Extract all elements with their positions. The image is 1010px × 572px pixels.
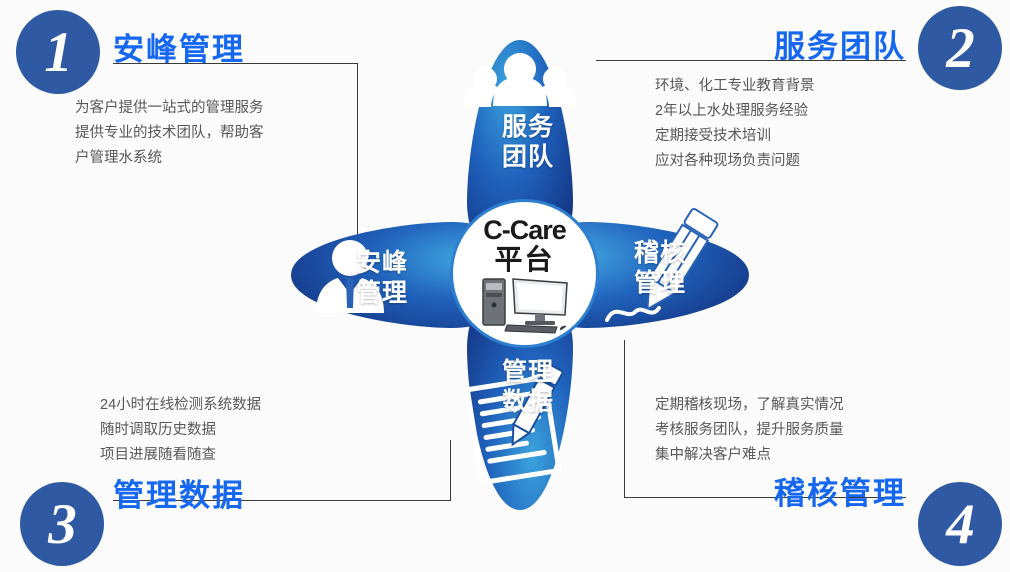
flower-diagram: 服务 团队 安峰 管理 稽核 管理 管理 数据 C-Care 平台 (255, 20, 785, 530)
section-body-3: 24小时在线检测系统数据 随时调取历史数据 项目进展随看随查 (100, 393, 261, 468)
number-badge-2-label: 2 (946, 20, 974, 77)
section-heading-1: 安峰管理 (113, 24, 245, 69)
body-line: 24小时在线检测系统数据 (100, 393, 261, 418)
number-badge-3: 3 (20, 482, 104, 566)
number-badge-1-label: 1 (44, 24, 72, 81)
infographic-canvas: 1 2 3 4 安峰管理 服务团队 管理数据 稽核管理 为客户提供一站式的管理服… (0, 0, 1010, 572)
number-badge-1: 1 (16, 10, 100, 94)
section-body-1: 为客户提供一站式的管理服务 提供专业的技术团队，帮助客 户管理水系统 (75, 96, 264, 171)
body-line: 为客户提供一站式的管理服务 (75, 96, 264, 121)
section-heading-2: 服务团队 (774, 21, 906, 66)
section-heading-3: 管理数据 (113, 470, 245, 515)
body-line: 随时调取历史数据 (100, 418, 261, 443)
center-hub[interactable]: C-Care 平台 (453, 202, 596, 345)
section-heading-4: 稽核管理 (774, 468, 906, 513)
number-badge-3-label: 3 (48, 496, 76, 553)
desktop-computer-icon (477, 275, 573, 335)
number-badge-4-label: 4 (946, 496, 974, 553)
body-line: 提供专业的技术团队，帮助客 (75, 121, 264, 146)
body-line: 户管理水系统 (75, 146, 264, 171)
center-hub-title: C-Care (483, 217, 566, 244)
number-badge-2: 2 (918, 6, 1002, 90)
body-line: 项目进展随看随查 (100, 443, 261, 468)
center-hub-subtitle: 平台 (494, 246, 554, 274)
people-group-icon (464, 53, 576, 107)
number-badge-4: 4 (918, 482, 1002, 566)
